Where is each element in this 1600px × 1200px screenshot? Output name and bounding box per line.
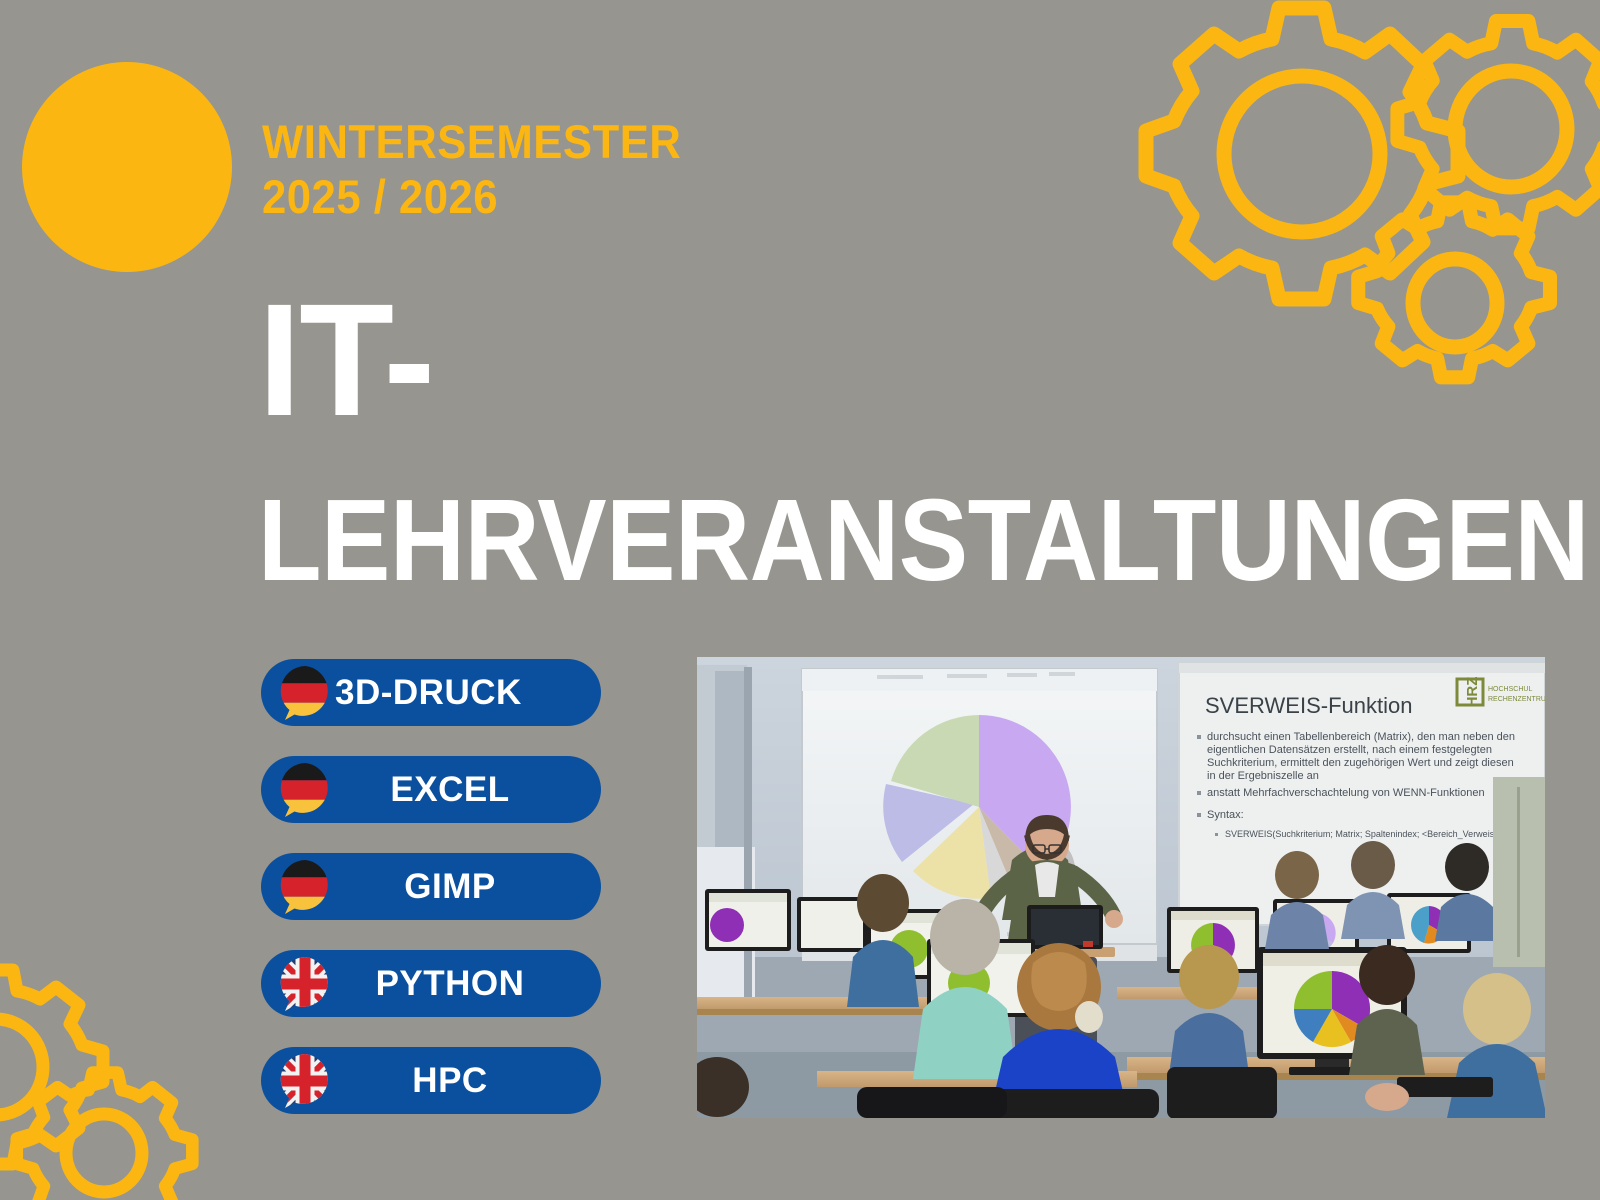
svg-text:in der Ergebniszelle an: in der Ergebniszelle an: [1207, 770, 1319, 782]
course-pill-3d-druck[interactable]: 3D-DRUCK: [261, 659, 601, 726]
slide-heading: SVERWEIS-Funktion: [1205, 693, 1412, 718]
course-pill-hpc[interactable]: HPC: [261, 1047, 601, 1114]
course-pill-python[interactable]: PYTHON: [261, 950, 601, 1017]
yellow-circle: [22, 62, 232, 272]
semester-eyebrow: WINTERSEMESTER 2025 / 2026: [262, 115, 681, 224]
page-title-line1: IT-: [258, 286, 433, 433]
gears-bottom-left-decoration: [0, 938, 224, 1200]
classroom-photo: SVERWEIS-Funktion HRZ HOCHSCHUL RECHENZE…: [697, 657, 1545, 1118]
german-flag-speech-bubble-icon: [276, 761, 334, 819]
svg-text:HOCHSCHUL: HOCHSCHUL: [1488, 686, 1532, 693]
uk-flag-speech-bubble-icon: [276, 1052, 334, 1110]
german-flag-speech-bubble-icon: [276, 858, 334, 916]
svg-text:Suchkriterium, ermittelt den z: Suchkriterium, ermittelt den zugehörigen…: [1207, 757, 1514, 769]
german-flag-speech-bubble-icon: [276, 664, 334, 722]
svg-text:durchsucht einen Tabellenberei: durchsucht einen Tabellenbereich (Matrix…: [1207, 731, 1515, 743]
gears-top-right-decoration: [1046, 0, 1600, 406]
course-pill-excel[interactable]: EXCEL: [261, 756, 601, 823]
svg-text:SVERWEIS(Suchkriterium; Matrix: SVERWEIS(Suchkriterium; Matrix; Spalteni…: [1225, 829, 1502, 839]
svg-text:eigentlichen Datensätzen erste: eigentlichen Datensätzen erstellt, nach …: [1207, 744, 1492, 756]
svg-text:Syntax:: Syntax:: [1207, 809, 1244, 821]
course-pill-gimp[interactable]: GIMP: [261, 853, 601, 920]
svg-text:HRZ: HRZ: [1464, 677, 1481, 708]
svg-text:anstatt Mehrfachverschachtelun: anstatt Mehrfachverschachtelung von WENN…: [1207, 787, 1485, 799]
uk-flag-speech-bubble-icon: [276, 955, 334, 1013]
page-title-line2: LEHRVERANSTALTUNGEN: [258, 486, 1589, 597]
poster-canvas: WINTERSEMESTER 2025 / 2026 IT- LEHRVERAN…: [0, 0, 1600, 1200]
course-list: 3D-DRUCK EXCEL: [261, 659, 601, 1114]
svg-text:RECHENZENTRUM: RECHENZENTRUM: [1488, 696, 1545, 703]
